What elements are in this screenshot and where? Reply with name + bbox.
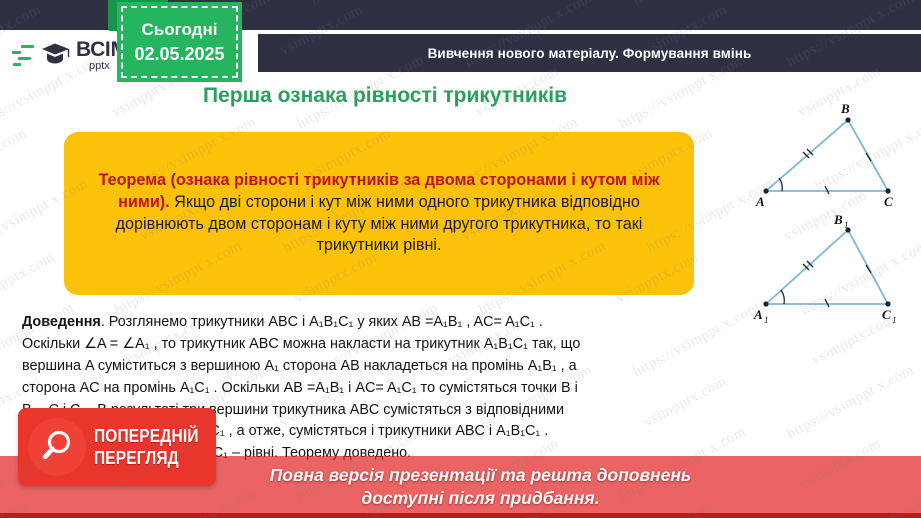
preview-badge-text: ПОПЕРЕДНІЙ ПЕРЕГЛЯД: [94, 427, 216, 467]
brand-logo: ВСІМ pptx: [6, 31, 130, 79]
triangle-abc-figure: B A C: [755, 101, 893, 209]
section-header-bar: Вивчення нового матеріалу. Формування вм…: [258, 34, 921, 72]
date-badge-value: 02.05.2025: [134, 44, 224, 65]
svg-text:1: 1: [844, 220, 849, 230]
svg-text:1: 1: [764, 315, 769, 325]
theorem-text: Теорема (ознака рівності трикутників за …: [78, 170, 680, 257]
date-badge-label: Сьогодні: [142, 20, 218, 40]
preview-badge-line-1: ПОПЕРЕДНІЙ: [94, 427, 199, 445]
triangle-a1b1c1-figure: B 1 A 1 C 1: [753, 212, 897, 325]
svg-text:A: A: [753, 307, 763, 322]
svg-text:B: B: [833, 212, 843, 227]
proof-line-2: Оскільки ∠A = ∠A₁ , то трикутник ABC мож…: [22, 334, 902, 356]
svg-text:C: C: [884, 194, 893, 209]
svg-text:A: A: [755, 194, 765, 209]
graduation-cap-icon: [38, 38, 72, 72]
paywall-line-1: Повна версія презентації та решта доповн…: [181, 464, 781, 487]
slide-root: ВСІМ pptx Сьогодні 02.05.2025 Вивчення н…: [0, 0, 921, 518]
svg-text:1: 1: [892, 315, 897, 325]
section-header-title: Вивчення нового матеріалу. Формування вм…: [428, 46, 752, 61]
geometry-figures: B A C B 1 A 1 C 1: [752, 98, 921, 330]
svg-text:B: B: [840, 101, 850, 116]
paywall-text: Повна версія презентації та решта доповн…: [181, 464, 781, 510]
logo-speed-lines-icon: [12, 45, 34, 66]
svg-text:C: C: [882, 307, 891, 322]
proof-line-3: вершина A суміститься з вершиною A₁ стор…: [22, 356, 902, 378]
theorem-box: Теорема (ознака рівності трикутників за …: [64, 132, 694, 295]
date-badge: Сьогодні 02.05.2025: [117, 2, 242, 82]
paywall-line-2: доступні після придбання.: [181, 487, 781, 510]
preview-badge-line-2: ПЕРЕГЛЯД: [94, 449, 199, 467]
magnifier-icon: [28, 418, 86, 476]
theorem-body: Якщо дві сторони і кут між ними одного т…: [116, 193, 643, 254]
preview-badge[interactable]: ПОПЕРЕДНІЙ ПЕРЕГЛЯД: [18, 408, 216, 486]
proof-line-1-text: . Розглянемо трикутники ABC і A₁B₁C₁ у я…: [101, 314, 543, 330]
proof-label: Доведення: [22, 314, 101, 330]
page-title: Перша ознака рівності трикутників: [0, 84, 770, 108]
proof-line-4: сторона AC на промінь A₁C₁ . Оскільки AB…: [22, 378, 902, 400]
